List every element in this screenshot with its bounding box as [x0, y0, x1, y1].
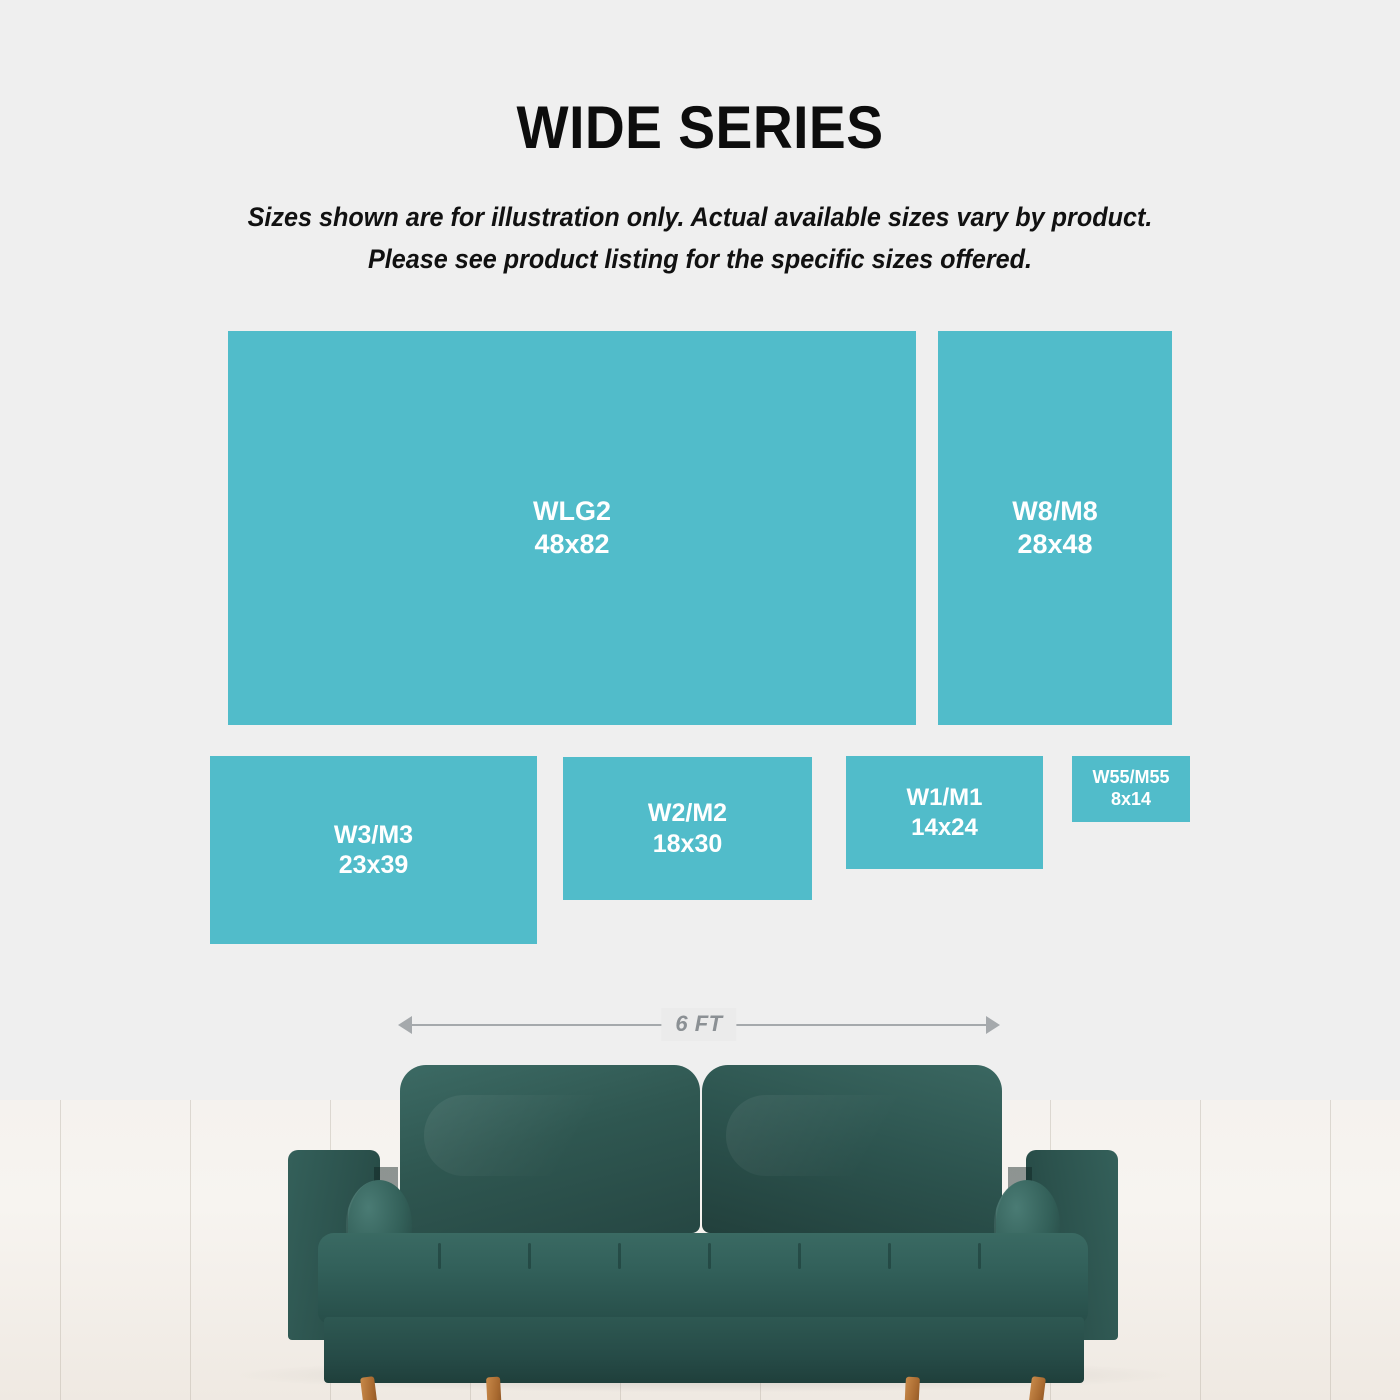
size-swatch-name: W1/M1 — [906, 783, 982, 812]
size-swatch-dimensions: 23x39 — [339, 850, 409, 881]
size-swatch-w55-m55[interactable]: W55/M55 8x14 — [1072, 756, 1190, 822]
size-swatch-w8-m8[interactable]: W8/M8 28x48 — [938, 331, 1172, 725]
size-swatch-dimensions: 14x24 — [911, 813, 978, 842]
size-swatch-dimensions: 28x48 — [1017, 528, 1092, 561]
floor-plank — [1200, 1100, 1201, 1400]
sofa-illustration — [288, 1055, 1118, 1400]
size-swatch-name: W8/M8 — [1012, 495, 1098, 528]
sofa-leg — [903, 1377, 920, 1400]
sofa-seat-cushion — [318, 1233, 1088, 1323]
sofa-seat-tuft — [708, 1243, 711, 1269]
size-swatch-wlg2[interactable]: WLG2 48x82 — [228, 331, 916, 725]
size-comparison-chart: WLG2 48x82 W8/M8 28x48 W3/M3 23x39 W2/M2… — [0, 0, 1400, 1000]
arrow-right-icon — [986, 1016, 1000, 1034]
sofa-seat-tuft — [528, 1243, 531, 1269]
size-swatch-w1-m1[interactable]: W1/M1 14x24 — [846, 756, 1043, 869]
sofa-base — [324, 1317, 1084, 1383]
sofa-seat-tuft — [798, 1243, 801, 1269]
size-swatch-name: W55/M55 — [1092, 767, 1169, 789]
size-swatch-w2-m2[interactable]: W2/M2 18x30 — [563, 757, 812, 900]
size-swatch-name: W3/M3 — [334, 820, 413, 851]
size-swatch-dimensions: 48x82 — [534, 528, 609, 561]
size-swatch-name: WLG2 — [533, 495, 611, 528]
size-swatch-name: W2/M2 — [648, 798, 727, 829]
sofa-seat-tuft — [888, 1243, 891, 1269]
sofa-back-cushion-left — [400, 1065, 700, 1233]
sofa-seat-tuft — [438, 1243, 441, 1269]
size-swatch-dimensions: 18x30 — [653, 829, 723, 860]
floor-plank — [1330, 1100, 1331, 1400]
size-swatch-dimensions: 8x14 — [1111, 789, 1151, 811]
floor-plank — [60, 1100, 61, 1400]
sofa-seat-tuft — [618, 1243, 621, 1269]
sofa-seat-tuft — [978, 1243, 981, 1269]
size-swatch-w3-m3[interactable]: W3/M3 23x39 — [210, 756, 537, 944]
floor-plank — [190, 1100, 191, 1400]
scale-bar: 6 FT — [398, 1008, 1000, 1042]
sofa-back-cushion-right — [702, 1065, 1002, 1233]
scale-bar-label: 6 FT — [661, 1008, 736, 1041]
